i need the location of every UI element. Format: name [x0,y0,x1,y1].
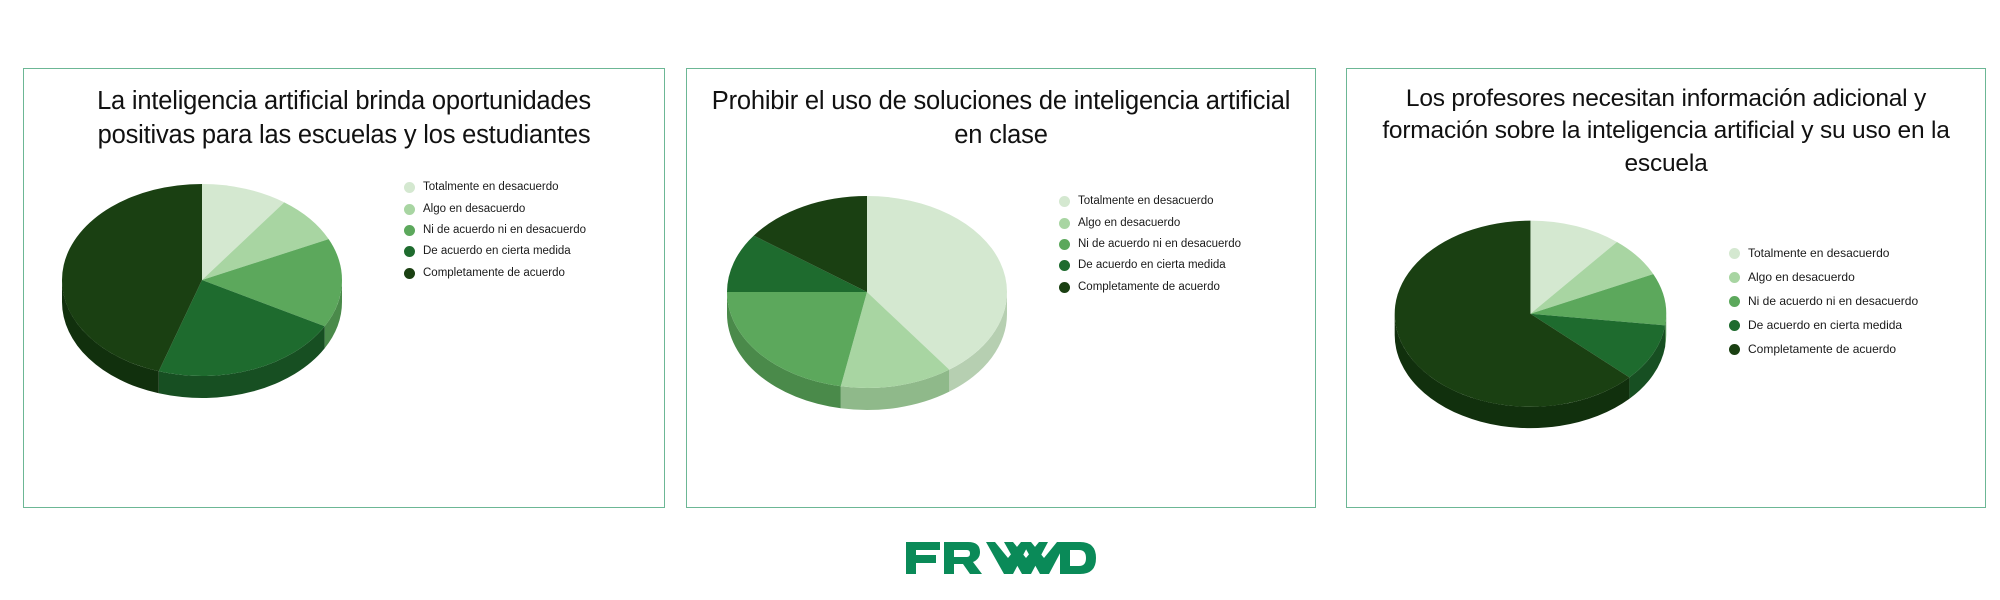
card-title-2: Prohibir el uso de soluciones de intelig… [687,69,1315,152]
legend-item[interactable]: Algo en desacuerdo [1059,216,1309,230]
legend-item[interactable]: Ni de acuerdo ni en desacuerdo [1729,294,1969,309]
legend-item-label: Completamente de acuerdo [423,266,565,280]
freeed-logo-mark [900,536,1100,578]
legend-item[interactable]: Completamente de acuerdo [404,266,654,280]
legend-swatch-icon [1059,260,1070,271]
card-title-3: Los profesores necesitan información adi… [1347,69,1985,180]
legend-item-label: De acuerdo en cierta medida [1748,318,1902,333]
legend-2: Totalmente en desacuerdoAlgo en desacuer… [1059,194,1309,301]
chart-card-2: Prohibir el uso de soluciones de intelig… [686,68,1316,508]
legend-item-label: Totalmente en desacuerdo [423,180,559,194]
pie-chart-3 [1385,198,1705,443]
legend-item[interactable]: Ni de acuerdo ni en desacuerdo [404,223,654,237]
legend-item[interactable]: Totalmente en desacuerdo [404,180,654,194]
legend-item[interactable]: Algo en desacuerdo [1729,270,1969,285]
legend-item[interactable]: Totalmente en desacuerdo [1729,246,1969,261]
pie-chart-1-svg [52,162,382,412]
legend-swatch-icon [404,268,415,279]
logo-letter [944,542,982,574]
logo-letter [1060,542,1096,574]
chart-card-3: Los profesores necesitan información adi… [1346,68,1986,508]
legend-swatch-icon [404,182,415,193]
pie-chart-3-svg [1385,198,1705,443]
card-title-1: La inteligencia artificial brinda oportu… [24,69,664,152]
legend-swatch-icon [404,204,415,215]
pie-chart-2 [717,174,1047,424]
legend-1: Totalmente en desacuerdoAlgo en desacuer… [404,180,654,287]
legend-item-label: De acuerdo en cierta medida [1078,258,1226,272]
legend-swatch-icon [1729,320,1740,331]
freeed-logo [0,534,2000,580]
legend-item-label: Completamente de acuerdo [1078,280,1220,294]
pie-top-group [727,196,1007,388]
legend-item[interactable]: De acuerdo en cierta medida [1059,258,1309,272]
legend-item[interactable]: Algo en desacuerdo [404,202,654,216]
legend-swatch-icon [1729,344,1740,355]
legend-swatch-icon [404,246,415,257]
legend-swatch-icon [1059,196,1070,207]
legend-swatch-icon [1729,248,1740,259]
legend-item[interactable]: Ni de acuerdo ni en desacuerdo [1059,237,1309,251]
legend-item-label: Totalmente en desacuerdo [1748,246,1889,261]
chart-card-1: La inteligencia artificial brinda oportu… [23,68,665,508]
legend-swatch-icon [1059,239,1070,250]
legend-swatch-icon [1059,218,1070,229]
legend-item[interactable]: De acuerdo en cierta medida [1729,318,1969,333]
legend-item-label: Ni de acuerdo ni en desacuerdo [1078,237,1241,251]
legend-item[interactable]: Completamente de acuerdo [1059,280,1309,294]
legend-swatch-icon [1059,282,1070,293]
legend-item-label: Algo en desacuerdo [1748,270,1855,285]
slide-canvas: La inteligencia artificial brinda oportu… [0,0,2000,600]
chart-card-row: La inteligencia artificial brinda oportu… [0,0,2000,600]
logo-letter [906,542,940,574]
legend-item[interactable]: De acuerdo en cierta medida [404,244,654,258]
legend-item-label: Ni de acuerdo ni en desacuerdo [423,223,586,237]
legend-item-label: Completamente de acuerdo [1748,342,1896,357]
legend-swatch-icon [1729,272,1740,283]
legend-item-label: Totalmente en desacuerdo [1078,194,1214,208]
pie-top-group [1395,221,1667,407]
legend-item-label: Algo en desacuerdo [1078,216,1180,230]
legend-item[interactable]: Completamente de acuerdo [1729,342,1969,357]
legend-item[interactable]: Totalmente en desacuerdo [1059,194,1309,208]
pie-top-group [62,184,342,376]
legend-item-label: De acuerdo en cierta medida [423,244,571,258]
pie-chart-1 [52,162,382,412]
legend-item-label: Ni de acuerdo ni en desacuerdo [1748,294,1918,309]
legend-3: Totalmente en desacuerdoAlgo en desacuer… [1729,246,1969,366]
legend-item-label: Algo en desacuerdo [423,202,525,216]
legend-swatch-icon [1729,296,1740,307]
pie-chart-2-svg [717,174,1047,424]
legend-swatch-icon [404,225,415,236]
